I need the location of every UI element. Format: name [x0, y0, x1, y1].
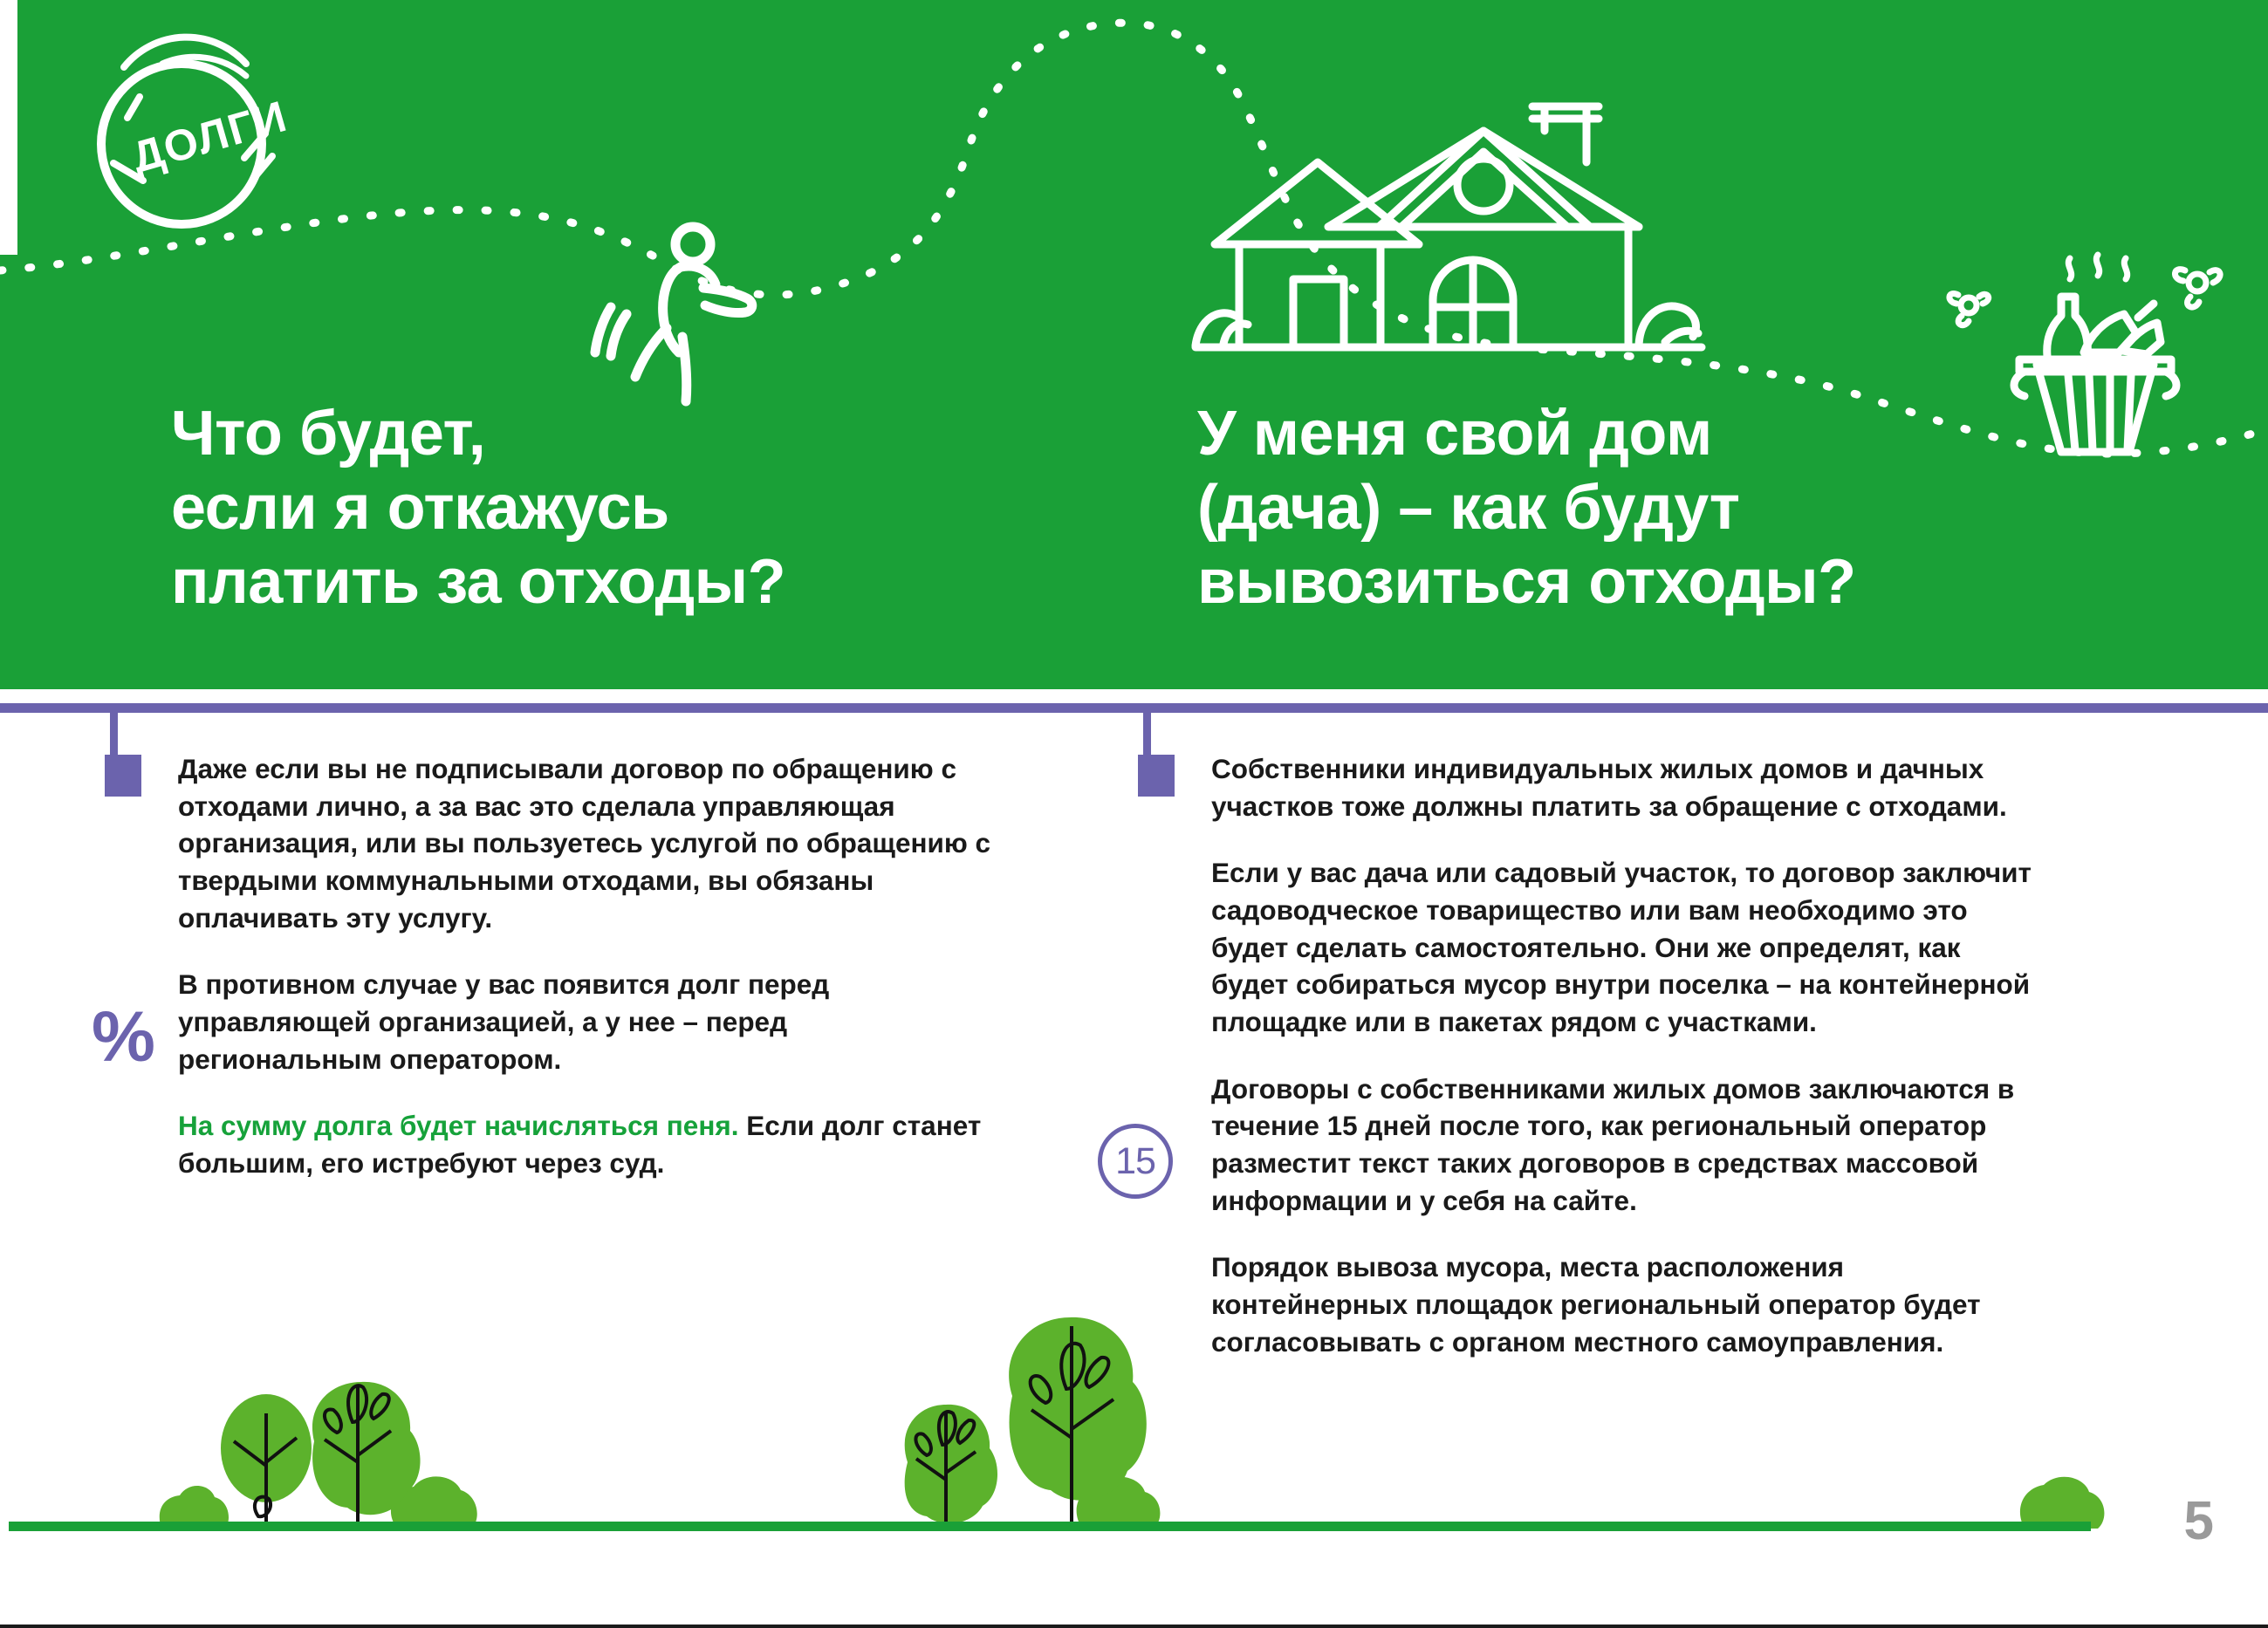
debts-stamp-icon: ДОЛГИ — [101, 38, 293, 224]
stamp-label: ДОЛГИ — [127, 92, 293, 182]
page-number: 5 — [2184, 1495, 2214, 1549]
right-paragraph-1: Собственники индивидуальных жилых домов … — [1211, 750, 2032, 824]
badge-15-label: 15 — [1115, 1140, 1155, 1183]
badge-15-icon: 15 — [1098, 1124, 1173, 1199]
highlight-text: На сумму долга будет начисляться пеня. — [178, 1110, 738, 1141]
header-band: ДОЛГИ — [0, 0, 2268, 689]
purple-divider-rule — [0, 703, 2268, 713]
right-column: Собственники индивидуальных жилых домов … — [1211, 750, 2049, 1390]
connector-stem-left — [110, 713, 118, 756]
ground-line-icon — [9, 1522, 2091, 1531]
right-paragraph-2: Если у вас дача или садовый участок, то … — [1211, 854, 2032, 1040]
square-marker-icon-right — [1138, 755, 1175, 797]
dotted-path-icon — [0, 23, 2268, 454]
walking-person-icon — [595, 227, 752, 401]
left-column: Даже если вы не подписывали договор по о… — [178, 750, 1016, 1212]
infographic-page: ДОЛГИ — [0, 0, 2268, 1628]
left-paragraph-1: Даже если вы не подписывали договор по о… — [178, 750, 998, 936]
left-paragraph-2: В противном случае у вас появится долг п… — [178, 966, 998, 1077]
tree-icon — [312, 1382, 421, 1529]
connector-stem-right — [1143, 713, 1151, 756]
left-paragraph-3: На сумму долга будет начисляться пеня. Е… — [178, 1107, 998, 1181]
percent-icon: % — [92, 1002, 155, 1073]
header-corner-notch — [0, 0, 17, 255]
left-heading: Что будет, если я откажусь платить за от… — [171, 397, 785, 619]
bottom-hairline — [0, 1625, 2268, 1628]
tree-icon — [905, 1405, 997, 1529]
square-marker-icon-left — [105, 755, 141, 797]
tree-icon — [1009, 1317, 1147, 1529]
house-icon — [1196, 106, 1702, 347]
right-paragraph-3: Договоры с собственниками жилых домов за… — [1211, 1071, 2032, 1220]
right-paragraph-4: Порядок вывоза мусора, места расположени… — [1211, 1248, 2032, 1360]
right-heading: У меня свой дом (дача) – как будут вывоз… — [1197, 397, 1856, 619]
sapling-icon — [221, 1394, 312, 1529]
overflowing-trash-bin-icon — [1949, 255, 2220, 452]
